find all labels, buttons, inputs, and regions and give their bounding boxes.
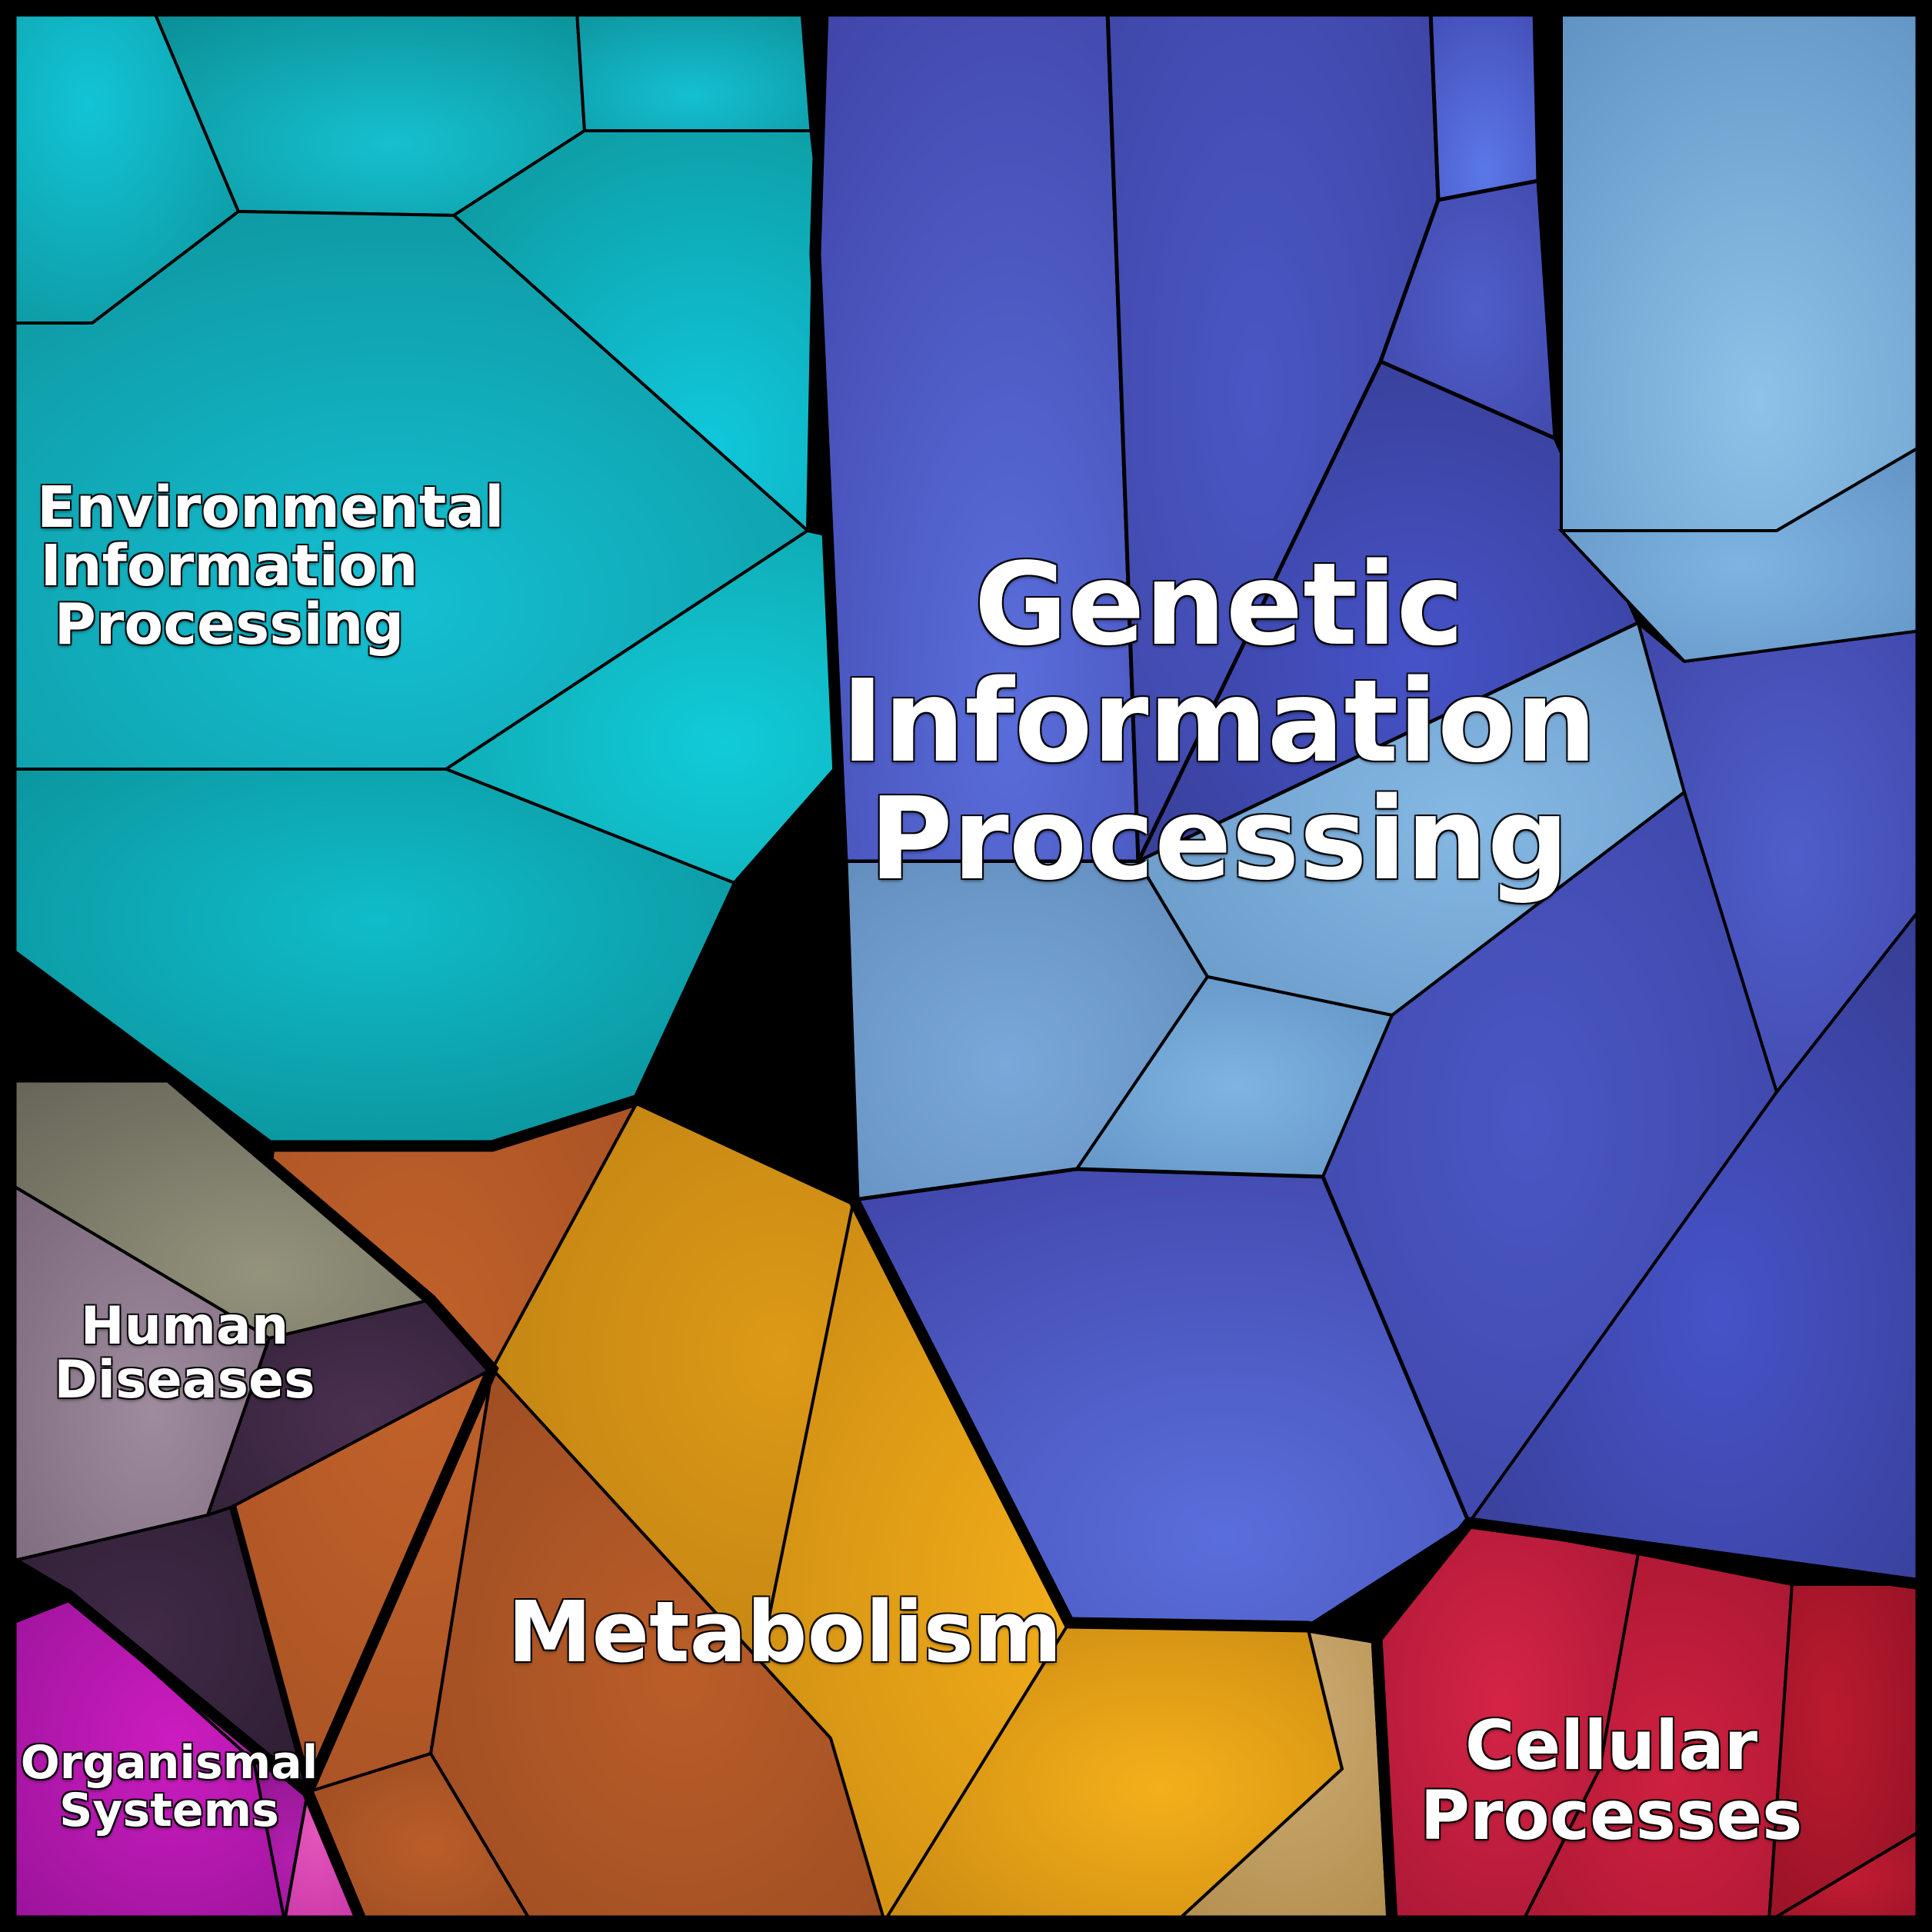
subcell-blue-3[interactable]	[1431, 11, 1538, 200]
subcell-steel-1[interactable]	[1561, 11, 1921, 531]
subcell-teal-3[interactable]	[577, 11, 815, 131]
subcell-blue-1[interactable]	[815, 11, 1138, 861]
voronoi-cells-canvas	[0, 0, 1932, 1932]
voronoi-treemap-figure: Environmental Information Processing Gen…	[0, 0, 1932, 1932]
